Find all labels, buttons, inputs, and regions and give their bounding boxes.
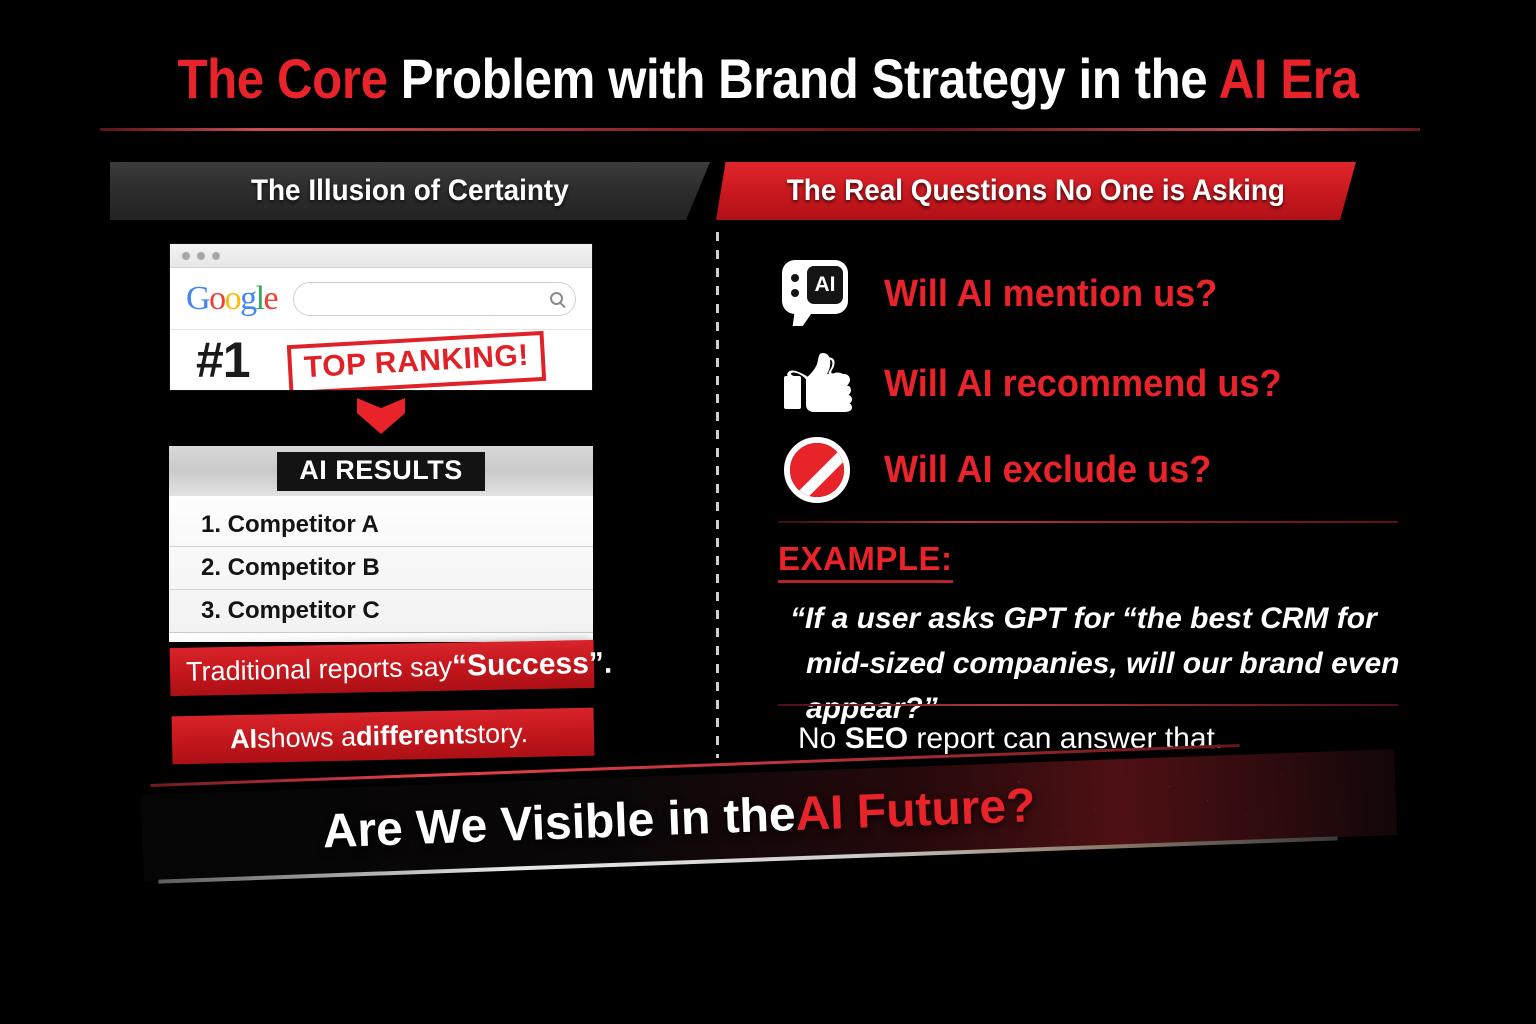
page-title-part3: AI Era [1219,47,1359,110]
ai-results-header-label: AI RESULTS [277,452,485,491]
question-row-recommend: 👍︎ Will AI recommend us? [780,348,1302,420]
ai-results-header: AI RESULTS [169,446,593,496]
ai-chat-bubble-label: AI [815,273,836,297]
right-section-header-label: The Real Questions No One is Asking [787,174,1285,208]
traditional-reports-banner: Traditional reports say “Success”. [170,640,595,696]
browser-result-row: #1 TOP RANKING! [170,330,592,390]
browser-search-row: Google [170,268,592,330]
example-top-divider [778,521,1398,523]
question-label-recommend: Will AI recommend us? [884,363,1282,406]
top-ranking-stamp: TOP RANKING! [287,331,546,391]
page-title-part1: The Core [177,47,400,110]
example-note-emph: SEO [845,722,908,755]
example-label: EXAMPLE: [778,540,953,583]
example-quote-line1: “If a user asks GPT for “the best CRM fo… [790,602,1377,635]
ai-story-lead: AI [230,723,258,755]
right-section-header: The Real Questions No One is Asking [716,162,1356,220]
left-section-header: The Illusion of Certainty [110,162,710,220]
google-logo: Google [186,282,277,316]
ai-chat-bubble-icon: AI [780,258,858,330]
bottom-banner: Are We Visible in the AI Future? [0,762,1536,902]
google-browser-mockup: Google #1 TOP RANKING! [169,243,593,391]
ai-story-emph: different [356,719,465,752]
page-title: The Core Problem with Brand Strategy in … [92,50,1444,109]
window-dot-maximize-icon [212,252,220,260]
column-divider [716,232,719,758]
question-label-mention: Will AI mention us? [884,273,1217,316]
chevron-down-icon [357,398,405,434]
thumbs-up-icon: 👍︎ [780,348,858,420]
ai-story-tail: story. [464,717,529,749]
list-item: 2. Competitor B [169,547,593,590]
bottom-banner-part1: Are We Visible in the [322,787,797,859]
ai-different-story-banner: AI shows a different story. [172,708,595,765]
traditional-reports-lead: Traditional reports say [186,651,453,687]
rank-number: #1 [196,335,250,385]
example-bottom-divider [778,704,1398,706]
ai-story-mid: shows a [257,721,357,754]
list-item: 1. Competitor A [169,504,593,547]
search-input[interactable] [293,282,576,316]
window-dot-minimize-icon [197,252,205,260]
example-note-lead: No [798,722,845,755]
left-section-header-label: The Illusion of Certainty [251,174,569,208]
title-divider [100,128,1420,131]
ai-results-panel: AI RESULTS 1. Competitor A 2. Competitor… [169,446,593,642]
prohibited-icon [780,434,858,506]
question-row-exclude: Will AI exclude us? [780,434,1229,506]
question-row-mention: AI Will AI mention us? [780,258,1235,330]
bottom-banner-part2: AI Future? [795,778,1037,842]
ai-results-list: 1. Competitor A 2. Competitor B 3. Compe… [169,496,593,633]
list-item: 3. Competitor C [169,590,593,633]
traditional-reports-emph: “Success”. [452,647,613,684]
question-label-exclude: Will AI exclude us? [884,449,1211,492]
example-note: No SEO report can answer that. [798,722,1223,756]
infographic-canvas: The Core Problem with Brand Strategy in … [0,0,1536,1024]
window-dot-close-icon [182,252,190,260]
browser-titlebar [170,244,592,268]
search-icon [550,292,563,305]
example-quote: “If a user asks GPT for “the best CRM fo… [790,596,1404,731]
example-quote-line2: mid-sized companies, will our brand even… [790,641,1404,731]
page-title-part2: Problem with Brand Strategy in the [401,47,1219,110]
